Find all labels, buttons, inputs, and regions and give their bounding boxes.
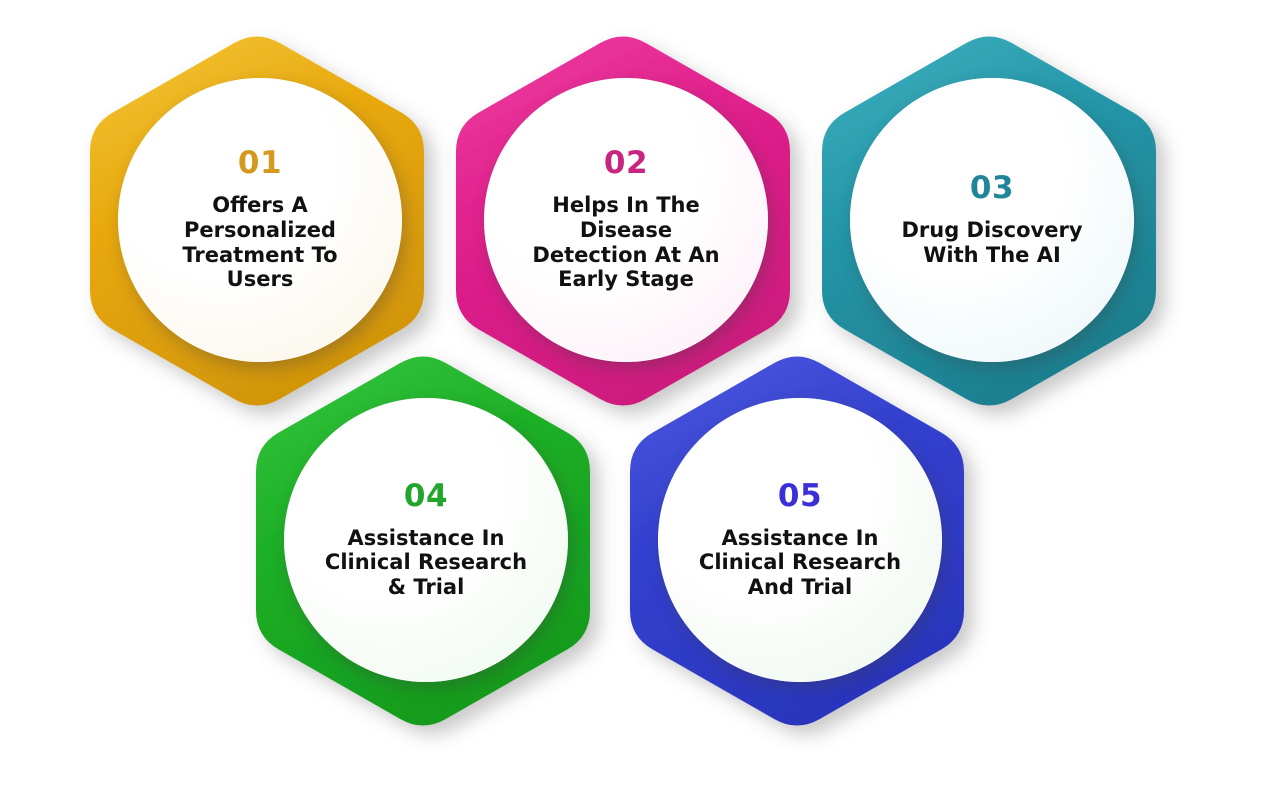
hexagon-infographic: 01Offers A Personalized Treatment To Use…: [0, 0, 1269, 800]
hexagon-circle-02[interactable]: 02Helps In The Disease Detection At An E…: [484, 78, 768, 362]
hexagon-number: 05: [778, 481, 822, 512]
hexagon-label: Assistance In Clinical Research And Tria…: [693, 526, 907, 600]
hexagon-circle-03[interactable]: 03Drug Discovery With The AI: [850, 78, 1134, 362]
hexagon-label: Helps In The Disease Detection At An Ear…: [526, 193, 725, 291]
hexagon-number: 01: [238, 148, 282, 179]
hexagon-label: Offers A Personalized Treatment To Users: [176, 193, 343, 291]
hexagon-circle-04[interactable]: 04Assistance In Clinical Research & Tria…: [284, 398, 568, 682]
hexagon-number: 03: [970, 173, 1014, 204]
hexagon-number: 02: [604, 148, 648, 179]
hexagon-label: Drug Discovery With The AI: [895, 218, 1088, 267]
hexagon-circle-05[interactable]: 05Assistance In Clinical Research And Tr…: [658, 398, 942, 682]
hexagon-circle-01[interactable]: 01Offers A Personalized Treatment To Use…: [118, 78, 402, 362]
hexagon-number: 04: [404, 481, 448, 512]
hexagon-label: Assistance In Clinical Research & Trial: [319, 526, 533, 600]
